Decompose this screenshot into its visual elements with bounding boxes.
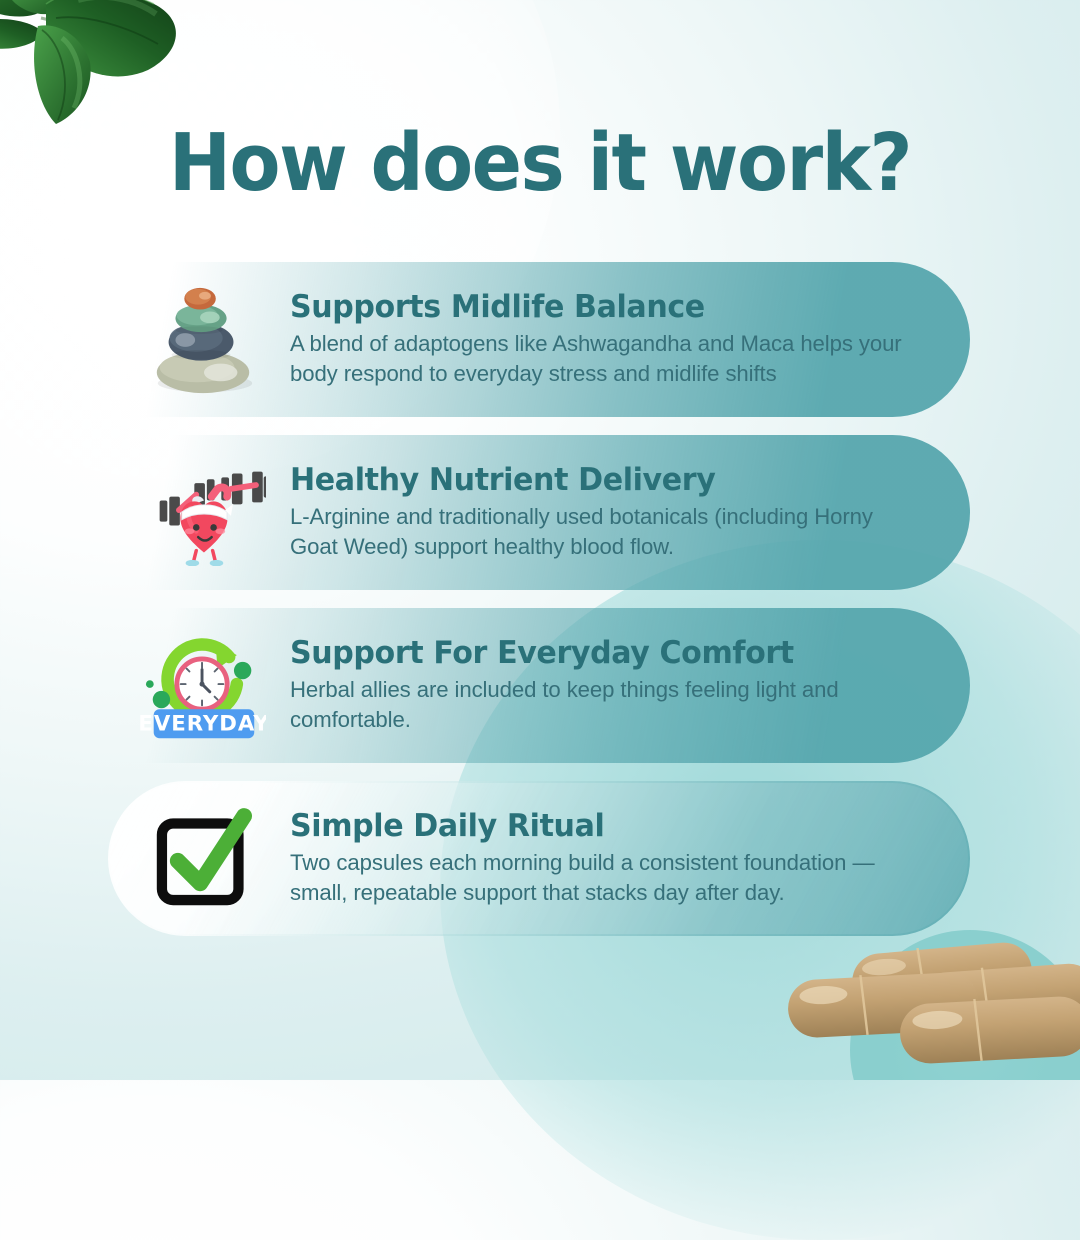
benefit-text: Simple Daily Ritual Two capsules each mo… <box>290 809 1050 909</box>
benefits-list: Supports Midlife Balance A blend of adap… <box>0 262 1080 936</box>
balanced-stones-icon <box>128 281 278 399</box>
benefit-row-supports-midlife-balance: Supports Midlife Balance A blend of adap… <box>0 262 1080 417</box>
heart-lifting-weights-icon <box>128 460 278 566</box>
everyday-clock-icon: EVERYDAY <box>128 628 278 744</box>
benefit-text: Support For Everyday Comfort Herbal alli… <box>290 636 1050 736</box>
benefit-row-simple-daily-ritual: Simple Daily Ritual Two capsules each mo… <box>0 781 1080 936</box>
checkbox-checkmark-icon <box>128 803 278 915</box>
benefit-heading: Simple Daily Ritual <box>290 809 911 844</box>
benefit-row-support-for-everyday-comfort: EVERYDAY Support For Everyday Comfort He… <box>0 608 1080 763</box>
benefit-text: Supports Midlife Balance A blend of adap… <box>290 290 1050 390</box>
benefit-body: Two capsules each morning build a consis… <box>290 848 920 908</box>
benefit-heading: Supports Midlife Balance <box>290 290 911 325</box>
benefit-body: A blend of adaptogens like Ashwagandha a… <box>290 329 920 389</box>
svg-text:EVERYDAY: EVERYDAY <box>140 711 266 736</box>
benefit-heading: Support For Everyday Comfort <box>290 636 911 671</box>
page-title: How does it work? <box>32 124 1047 203</box>
benefit-body: Herbal allies are included to keep thing… <box>290 675 920 735</box>
benefit-text: Healthy Nutrient Delivery L-Arginine and… <box>290 463 1050 563</box>
benefit-heading: Healthy Nutrient Delivery <box>290 463 911 498</box>
benefit-row-healthy-nutrient-delivery: Healthy Nutrient Delivery L-Arginine and… <box>0 435 1080 590</box>
page-title-wrap: How does it work? <box>0 124 1080 203</box>
benefit-body: L-Arginine and traditionally used botani… <box>290 502 920 562</box>
herbal-capsules <box>770 920 1080 1080</box>
